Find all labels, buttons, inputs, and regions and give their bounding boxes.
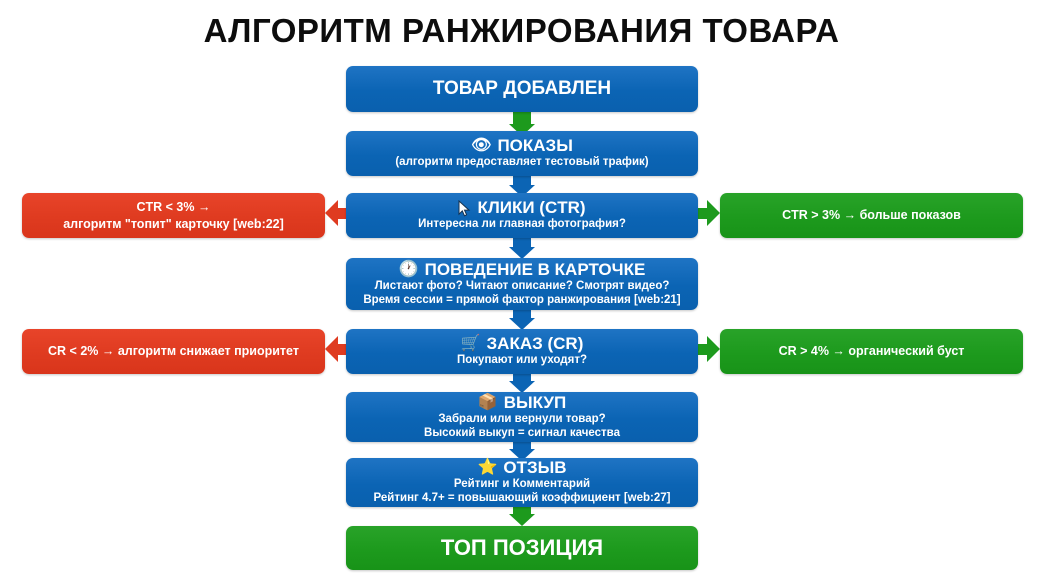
branch-ctr-positive[interactable]: CTR > 3% → больше показов xyxy=(720,193,1023,238)
node-clicks-ctr[interactable]: КЛИКИ (CTR) Интересна ли главная фотогра… xyxy=(346,193,698,238)
node-buyout[interactable]: 📦 ВЫКУП Забрали или вернули товар? Высок… xyxy=(346,392,698,442)
connector-c10-head xyxy=(325,336,338,362)
node-clicks-ctr-sub: Интересна ли главная фотография? xyxy=(418,217,626,231)
star-icon: ⭐ xyxy=(477,460,497,476)
eye-icon: 👁 xyxy=(471,138,491,154)
node-card-behavior-sub1: Листают фото? Читают описание? Смотрят в… xyxy=(375,279,670,293)
branch-cr-negative-line1: CR < 2% → алгоритм снижает приоритет xyxy=(48,343,299,359)
node-buyout-head: 📦 ВЫКУП xyxy=(478,394,566,412)
node-product-added[interactable]: ТОВАР ДОБАВЛЕН xyxy=(346,66,698,112)
connector-c4-shaft xyxy=(513,309,531,318)
node-order-cr[interactable]: 🛒 ЗАКАЗ (CR) Покупают или уходят? xyxy=(346,329,698,374)
node-clicks-ctr-head: КЛИКИ (CTR) xyxy=(458,199,585,217)
shopping-cart-icon: 🛒 xyxy=(461,336,481,352)
node-buyout-sub2: Высокий выкуп = сигнал качества xyxy=(424,426,620,440)
node-card-behavior-sub2: Время сессии = прямой фактор ранжировани… xyxy=(363,293,680,307)
branch-ctr-negative[interactable]: CTR < 3% → алгоритм "топит" карточку [we… xyxy=(22,193,325,238)
node-top-position[interactable]: ТОП ПОЗИЦИЯ xyxy=(346,526,698,570)
connector-c7-head xyxy=(509,514,535,526)
node-top-position-title: ТОП ПОЗИЦИЯ xyxy=(441,536,603,559)
node-review[interactable]: ⭐ ОТЗЫВ Рейтинг и Комментарий Рейтинг 4.… xyxy=(346,458,698,507)
branch-cr-negative[interactable]: CR < 2% → алгоритм снижает приоритет xyxy=(22,329,325,374)
connector-c1-shaft xyxy=(513,110,531,124)
branch-ctr-positive-line1: CTR > 3% → больше показов xyxy=(782,207,961,223)
node-impressions[interactable]: 👁 ПОКАЗЫ (алгоритм предоставляет тестовы… xyxy=(346,131,698,176)
branch-cr-positive[interactable]: CR > 4% → органический буст xyxy=(720,329,1023,374)
node-card-behavior-title: ПОВЕДЕНИЕ В КАРТОЧКЕ xyxy=(425,261,646,279)
connector-c8-head xyxy=(325,200,338,226)
connector-c11-head xyxy=(707,336,720,362)
node-order-cr-title: ЗАКАЗ (CR) xyxy=(487,335,584,353)
node-order-cr-sub: Покупают или уходят? xyxy=(457,353,587,367)
node-order-cr-head: 🛒 ЗАКАЗ (CR) xyxy=(461,335,584,353)
node-clicks-ctr-title: КЛИКИ (CTR) xyxy=(477,199,585,217)
node-review-head: ⭐ ОТЗЫВ xyxy=(477,459,566,477)
node-top-position-head: ТОП ПОЗИЦИЯ xyxy=(441,536,603,559)
node-review-sub2: Рейтинг 4.7+ = повышающий коэффициент [w… xyxy=(374,491,671,505)
mouse-cursor-icon xyxy=(458,200,471,217)
branch-cr-positive-line1: CR > 4% → органический буст xyxy=(779,343,965,359)
node-buyout-sub1: Забрали или вернули товар? xyxy=(438,412,605,426)
node-buyout-title: ВЫКУП xyxy=(504,394,567,412)
node-review-title: ОТЗЫВ xyxy=(503,459,566,477)
node-impressions-title: ПОКАЗЫ xyxy=(497,137,572,155)
node-review-sub1: Рейтинг и Комментарий xyxy=(454,477,590,491)
node-impressions-head: 👁 ПОКАЗЫ xyxy=(471,137,573,155)
connector-c3-shaft xyxy=(513,237,531,247)
node-impressions-sub: (алгоритм предоставляет тестовый трафик) xyxy=(395,155,648,169)
branch-ctr-negative-line2: алгоритм "топит" карточку [web:22] xyxy=(63,216,284,232)
page-title: АЛГОРИТМ РАНЖИРОВАНИЯ ТОВАРА xyxy=(0,12,1043,50)
clock-icon: 🕐 xyxy=(399,262,419,278)
branch-ctr-negative-line1: CTR < 3% → xyxy=(137,199,211,215)
node-card-behavior-head: 🕐 ПОВЕДЕНИЕ В КАРТОЧКЕ xyxy=(399,261,646,279)
diagram-canvas: АЛГОРИТМ РАНЖИРОВАНИЯ ТОВАРА ТОВАР ДОБАВ… xyxy=(0,0,1043,586)
node-product-added-head: ТОВАР ДОБАВЛЕН xyxy=(433,79,611,99)
node-product-added-title: ТОВАР ДОБАВЛЕН xyxy=(433,79,611,99)
node-card-behavior[interactable]: 🕐 ПОВЕДЕНИЕ В КАРТОЧКЕ Листают фото? Чит… xyxy=(346,258,698,310)
connector-c9-head xyxy=(707,200,720,226)
package-icon: 📦 xyxy=(478,395,498,411)
